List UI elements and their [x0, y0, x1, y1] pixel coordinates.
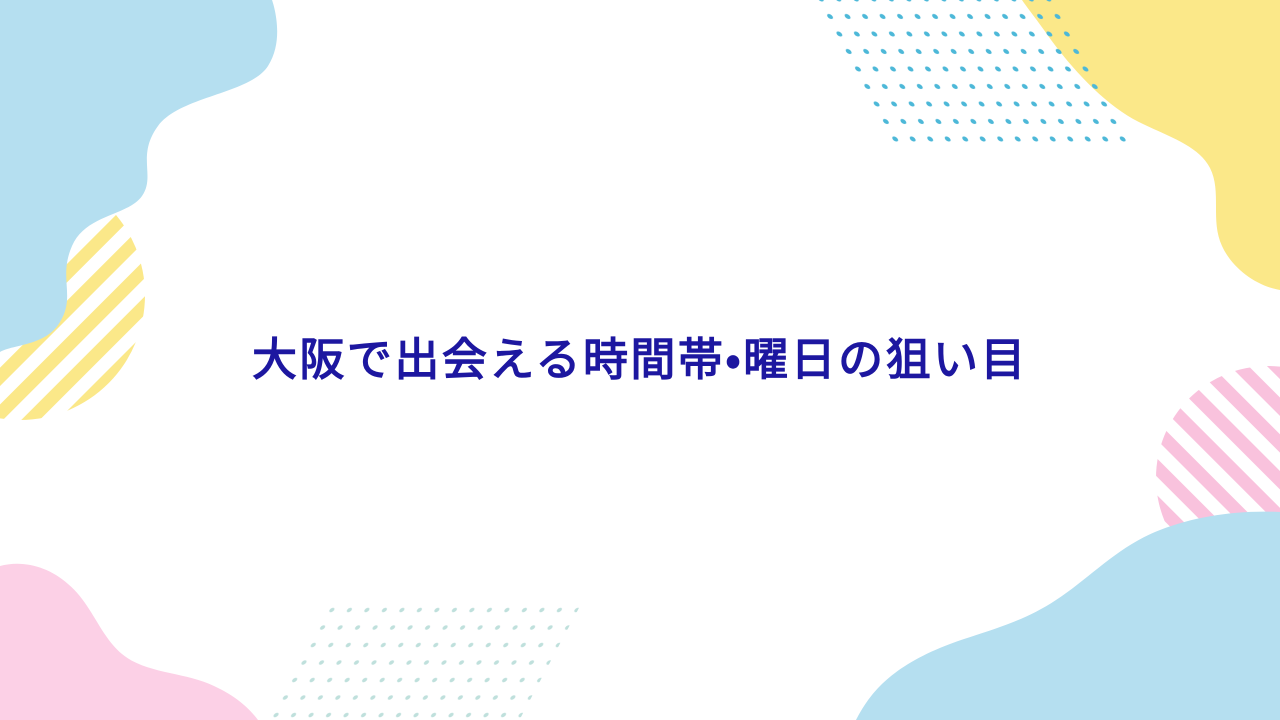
title-container: 大阪で出会える時間帯・曜日の狙い目 — [0, 0, 1280, 720]
slide-canvas: 大阪で出会える時間帯・曜日の狙い目 — [0, 0, 1280, 720]
page-title: 大阪で出会える時間帯・曜日の狙い目 — [192, 330, 1088, 391]
